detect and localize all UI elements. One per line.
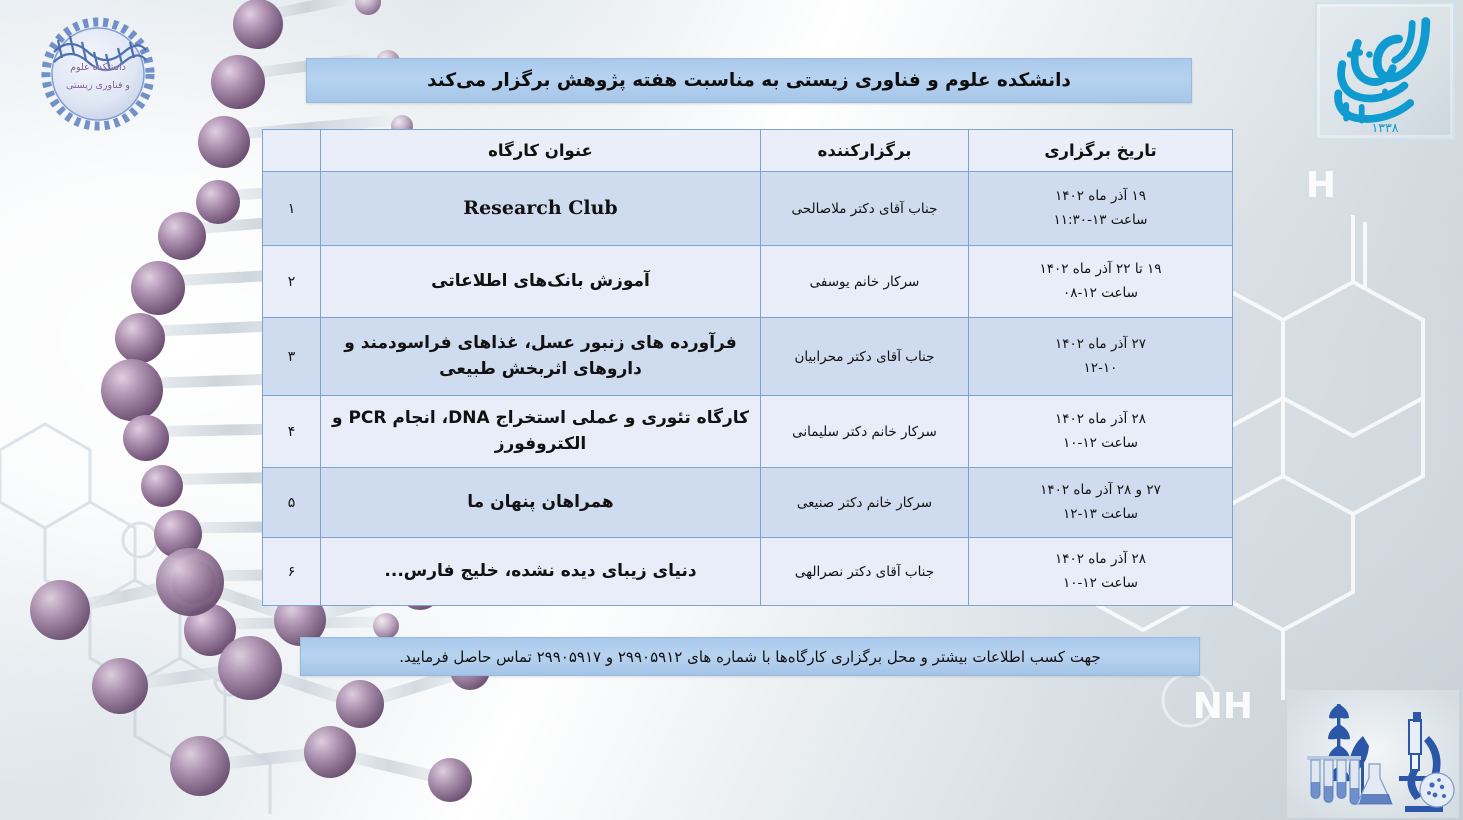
column-header-index: [263, 130, 321, 172]
cell-host: جناب آقای دکتر ملاصالحی: [761, 172, 969, 246]
chem-label-nh: NH: [1193, 686, 1253, 727]
table-row: ۱۹ تا ۲۲ آذر ماه ۱۴۰۲ ساعت ۱۲-۰۸ سرکار خ…: [263, 246, 1233, 318]
cell-date: ۲۸ آذر ماه ۱۴۰۲ ساعت ۱۲-۱۰: [969, 396, 1233, 468]
cell-host: جناب آقای دکتر نصرالهی: [761, 538, 969, 606]
cell-title: دنیای زیبای دیده نشده، خلیج فارس...: [321, 538, 761, 606]
cell-index: ۲: [263, 246, 321, 318]
contact-banner: جهت کسب اطلاعات بیشتر و محل برگزاری کارگ…: [300, 637, 1200, 676]
title-banner: دانشکده علوم و فناوری زیستی به مناسبت هف…: [306, 58, 1192, 103]
table-row: ۱۹ آذر ماه ۱۴۰۲ ساعت ۱۳-۱۱:۳۰ جناب آقای …: [263, 172, 1233, 246]
cell-title: کارگاه تئوری و عملی استخراج DNA، انجام P…: [321, 396, 761, 468]
column-header-host: برگزارکننده: [761, 130, 969, 172]
table-row: ۲۸ آذر ماه ۱۴۰۲ ساعت ۱۲-۱۰ سرکار خانم دک…: [263, 396, 1233, 468]
workshops-table: تاریخ برگزاری برگزارکننده عنوان کارگاه ۱…: [262, 129, 1233, 606]
shahid-beheshti-logo-icon: ۱۳۳۸: [1317, 4, 1453, 138]
cell-index: ۴: [263, 396, 321, 468]
table-body: ۱۹ آذر ماه ۱۴۰۲ ساعت ۱۳-۱۱:۳۰ جناب آقای …: [263, 172, 1233, 606]
table-row: ۲۸ آذر ماه ۱۴۰۲ ساعت ۱۲-۱۰ جناب آقای دکت…: [263, 538, 1233, 606]
table-row: ۲۷ آذر ماه ۱۴۰۲ ۱۲-۱۰ جناب آقای دکتر محر…: [263, 318, 1233, 396]
cell-index: ۵: [263, 468, 321, 538]
cell-index: ۶: [263, 538, 321, 606]
cell-date: ۲۷ و ۲۸ آذر ماه ۱۴۰۲ ساعت ۱۳-۱۲: [969, 468, 1233, 538]
cell-host: سرکار خانم یوسفی: [761, 246, 969, 318]
page-title: دانشکده علوم و فناوری زیستی به مناسبت هف…: [427, 70, 1071, 91]
chem-label-h: H: [1306, 165, 1336, 206]
poster-canvas: CH 3 H NH: [0, 0, 1463, 820]
cell-host: سرکار خانم دکتر صنیعی: [761, 468, 969, 538]
faculty-seal-logo: دانشکده علوم و فناوری زیستی: [18, 12, 178, 137]
cell-title: همراهان پنهان ما: [321, 468, 761, 538]
university-founding-year: ۱۳۳۸: [1371, 120, 1398, 135]
faculty-seal-line1: دانشکده علوم: [70, 62, 126, 73]
microscope-plants-icon: [1287, 690, 1459, 818]
cell-date: ۲۷ آذر ماه ۱۴۰۲ ۱۲-۱۰: [969, 318, 1233, 396]
cell-title: فرآورده های زنبور عسل، غذاهای فراسودمند …: [321, 318, 761, 396]
cell-index: ۳: [263, 318, 321, 396]
cell-host: جناب آقای دکتر محرابیان: [761, 318, 969, 396]
table-header-row: تاریخ برگزاری برگزارکننده عنوان کارگاه: [263, 130, 1233, 172]
table-row: ۲۷ و ۲۸ آذر ماه ۱۴۰۲ ساعت ۱۳-۱۲ سرکار خا…: [263, 468, 1233, 538]
cell-index: ۱: [263, 172, 321, 246]
cell-title: Research Club: [321, 172, 761, 246]
university-logo: ۱۳۳۸: [1315, 2, 1455, 140]
cell-date: ۱۹ آذر ماه ۱۴۰۲ ساعت ۱۳-۱۱:۳۰: [969, 172, 1233, 246]
cell-host: سرکار خانم دکتر سلیمانی: [761, 396, 969, 468]
contact-info-text: جهت کسب اطلاعات بیشتر و محل برگزاری کارگ…: [399, 648, 1101, 666]
science-illustration-logo: [1287, 690, 1459, 818]
cell-date: ۲۸ آذر ماه ۱۴۰۲ ساعت ۱۲-۱۰: [969, 538, 1233, 606]
cell-date: ۱۹ تا ۲۲ آذر ماه ۱۴۰۲ ساعت ۱۲-۰۸: [969, 246, 1233, 318]
cell-title: آموزش بانک‌های اطلاعاتی: [321, 246, 761, 318]
faculty-seal-line2: و فناوری زیستی: [66, 80, 130, 91]
column-header-title: عنوان کارگاه: [321, 130, 761, 172]
column-header-date: تاریخ برگزاری: [969, 130, 1233, 172]
